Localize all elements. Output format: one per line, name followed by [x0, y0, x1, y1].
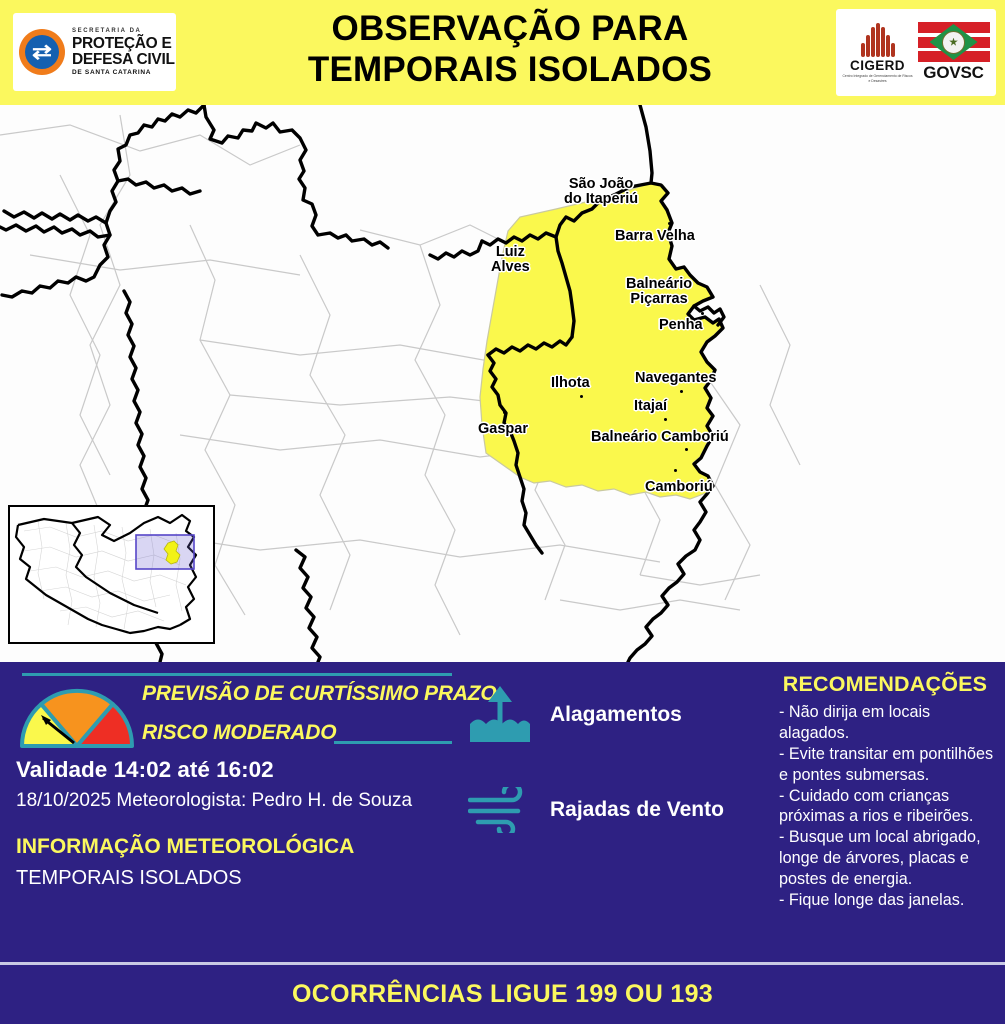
cigerd-logo: CIGERD Centro Integrado de Gerenciamento… — [842, 21, 914, 83]
govsc-name: GOVSC — [917, 63, 991, 83]
footer-bar: OCORRÊNCIAS LIGUE 199 OU 193 — [0, 962, 1005, 1024]
recommendations-heading: RECOMENDAÇÕES — [775, 672, 995, 697]
inset-geometry — [10, 507, 209, 638]
page-title-line1: OBSERVAÇÃO PARA — [200, 8, 820, 49]
flooding-icon — [468, 684, 532, 746]
recommendation-item: - Não dirija em locais alagados. — [779, 702, 998, 744]
risk-level-underline — [334, 741, 452, 744]
govsc-logo: GOVSC — [917, 22, 991, 83]
cigerd-name: CIGERD — [842, 58, 914, 73]
city-label-gaspar: Gaspar — [478, 422, 528, 437]
header-banner: ⇄ SECRETARIA DA PROTEÇÃO E DEFESA CIVIL … — [0, 0, 1005, 105]
city-label-text: Penha — [659, 317, 703, 333]
emergency-phone-text: OCORRÊNCIAS LIGUE 199 OU 193 — [292, 980, 713, 1009]
info-panel: PREVISÃO DE CURTÍSSIMO PRAZO RISCO MODER… — [0, 662, 1005, 962]
city-label-text: Balneário Camboriú — [591, 429, 729, 445]
city-label-balneario-picarras: Balneário Piçarras — [626, 277, 692, 307]
recommendation-item: - Busque um local abrigado, longe de árv… — [779, 827, 998, 890]
city-label-text: Gaspar — [478, 421, 528, 437]
hazard-flooding-label: Alagamentos — [550, 703, 682, 727]
city-label-text: Camboriú — [645, 479, 713, 495]
city-label-barra-velha: Barra Velha — [615, 229, 695, 244]
inset-locator-map — [8, 505, 215, 644]
hazard-flooding: Alagamentos — [468, 684, 682, 746]
wind-gust-icon — [468, 787, 532, 833]
risk-level-label: RISCO MODERADO — [142, 721, 336, 745]
partner-logos: CIGERD Centro Integrado de Gerenciamento… — [836, 9, 996, 96]
city-label-text: Balneário Piçarras — [626, 277, 692, 307]
alert-map[interactable]: São João do Itaperiú Barra Velha Luiz Al… — [0, 105, 1005, 662]
city-label-ilhota: Ilhota — [551, 376, 590, 391]
recommendation-item: - Cuidado com crianças próximas a rios e… — [779, 786, 998, 828]
logo-defesacivil-line: DEFESA CIVIL — [72, 52, 175, 68]
panel-top-divider — [22, 673, 452, 676]
city-label-balneario-camboriu: Balneário Camboriú — [591, 430, 729, 445]
recommendations-list: - Não dirija em locais alagados. - Evite… — [779, 702, 998, 911]
city-label-sao-joao-do-itaperiu: São João do Itaperiú — [564, 177, 638, 207]
city-label-text: Barra Velha — [615, 228, 695, 244]
cigerd-subtitle: Centro Integrado de Gerenciamento de Ris… — [842, 74, 914, 83]
city-label-text: Ilhota — [551, 375, 590, 391]
city-label-itajai: Itajaí — [634, 399, 667, 414]
forecast-type-label: PREVISÃO DE CURTÍSSIMO PRAZO — [142, 682, 497, 706]
issuer-label: 18/10/2025 Meteorologista: Pedro H. de S… — [16, 790, 412, 812]
validity-label: Validade 14:02 até 16:02 — [16, 757, 274, 783]
alert-bulletin-page: ⇄ SECRETARIA DA PROTEÇÃO E DEFESA CIVIL … — [0, 0, 1005, 1024]
city-label-luiz-alves: Luiz Alves — [491, 245, 530, 275]
cigerd-waves-icon — [842, 21, 914, 57]
recommendation-item: - Evite transitar em pontilhões e pontes… — [779, 744, 998, 786]
hazard-wind-gust: Rajadas de Vento — [468, 787, 724, 833]
risk-gauge — [14, 680, 140, 752]
risk-gauge-icon — [14, 680, 140, 752]
meteorological-info-heading: INFORMAÇÃO METEOROLÓGICA — [16, 835, 354, 859]
city-label-camboriu: Camboriú — [645, 480, 713, 495]
logo-protecao-line: PROTEÇÃO E — [72, 36, 175, 52]
city-label-text: Navegantes — [635, 370, 716, 386]
hazard-wind-gust-label: Rajadas de Vento — [550, 798, 724, 822]
inset-viewport-rect — [136, 535, 194, 569]
defesa-civil-logo: ⇄ SECRETARIA DA PROTEÇÃO E DEFESA CIVIL … — [13, 13, 176, 91]
page-title-line2: TEMPORAIS ISOLADOS — [200, 49, 820, 90]
recommendation-item: - Fique longe das janelas. — [779, 890, 998, 911]
santa-catarina-flag-icon — [918, 22, 990, 62]
meteorological-info-text: TEMPORAIS ISOLADOS — [16, 867, 242, 890]
page-title: OBSERVAÇÃO PARA TEMPORAIS ISOLADOS — [200, 8, 820, 91]
logo-santacatarina-line: DE SANTA CATARINA — [72, 70, 175, 77]
city-label-text: São João do Itaperiú — [564, 177, 638, 207]
city-label-navegantes: Navegantes — [635, 371, 716, 386]
logo-secretaria-line: SECRETARIA DA — [72, 28, 175, 34]
city-label-penha: Penha — [659, 318, 703, 333]
defesa-civil-emblem-icon: ⇄ — [19, 29, 65, 75]
city-label-text: Luiz Alves — [491, 245, 530, 275]
city-label-text: Itajaí — [634, 398, 667, 414]
